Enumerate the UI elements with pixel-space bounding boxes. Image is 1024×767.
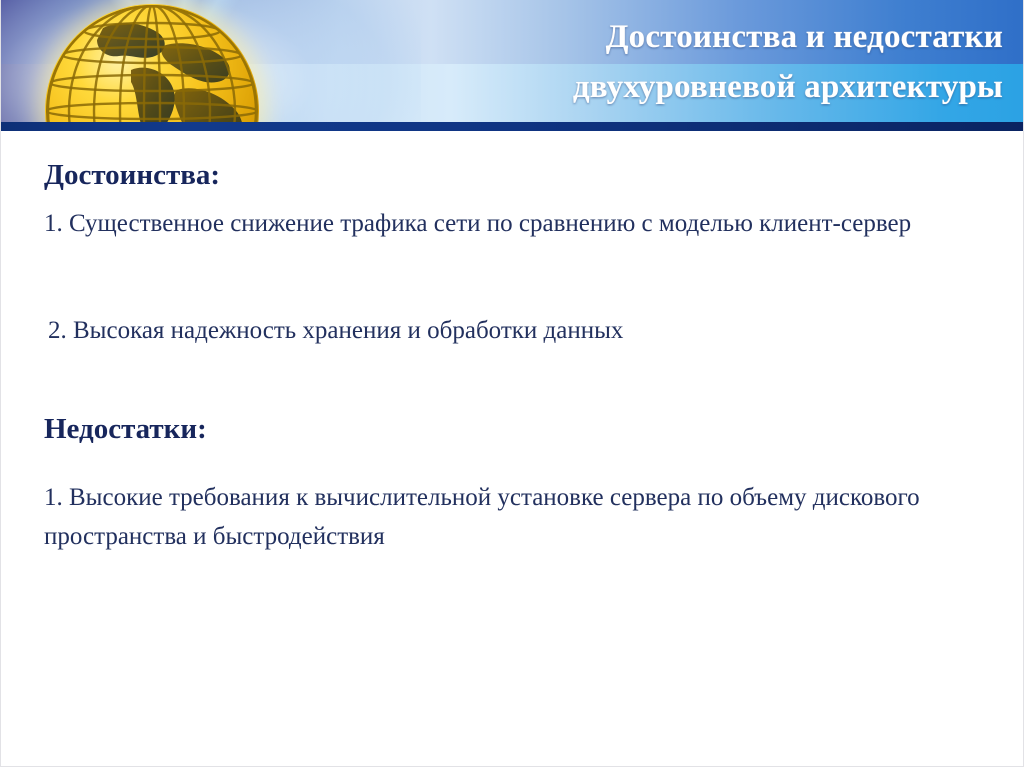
slide-content: Достоинства: 1. Существенное снижение тр… <box>1 131 1024 767</box>
slide-title-line-2: двухуровневой архитектуры <box>313 62 1003 112</box>
header-bottom-rule <box>1 122 1024 131</box>
globe-wireframe-icon <box>45 4 259 131</box>
disadvantages-heading: Недостатки: <box>44 412 207 446</box>
advantages-heading: Достоинства: <box>44 158 220 192</box>
slide-header-banner: Достоинства и недостатки двухуровневой а… <box>1 0 1024 131</box>
slide: Достоинства и недостатки двухуровневой а… <box>0 0 1024 767</box>
disadvantages-item-1: 1. Высокие требования к вычислительной у… <box>44 478 944 556</box>
globe-icon <box>45 4 259 126</box>
advantages-item-1: 1. Существенное снижение трафика сети по… <box>44 204 974 243</box>
slide-title: Достоинства и недостатки двухуровневой а… <box>313 12 1003 112</box>
advantages-item-2: 2. Высокая надежность хранения и обработ… <box>48 311 978 350</box>
slide-title-line-1: Достоинства и недостатки <box>313 12 1003 62</box>
